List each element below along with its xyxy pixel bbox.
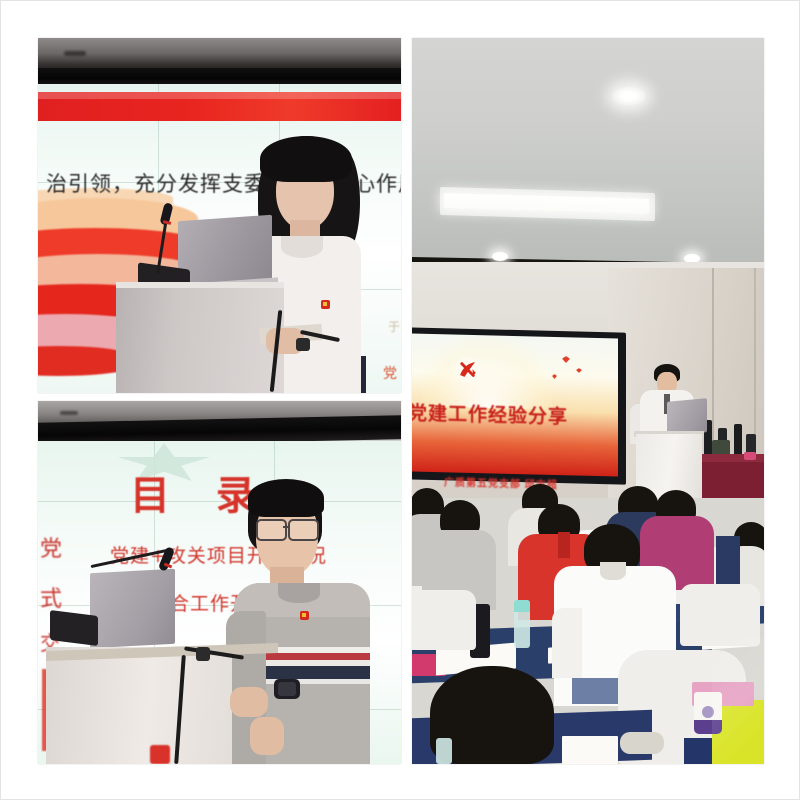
glasses-bridge [283, 526, 288, 528]
party-emblem-pin-center [302, 613, 306, 617]
party-emblem-pin-center [323, 302, 327, 306]
screen-edge-char-2: 式 [40, 581, 62, 613]
collage-frame: 治引领，充分发挥支委会领导核心作用 党建 活动策划 质量提升 党 于 [0, 0, 800, 800]
podium [116, 282, 284, 393]
collage-inner: 治引领，充分发挥支委会领导核心作用 党建 活动策划 质量提升 党 于 [38, 38, 764, 764]
speaker-hand-2 [250, 717, 284, 755]
podium-top [116, 282, 284, 288]
water-bottle-cap [514, 600, 530, 612]
red-object [150, 745, 170, 764]
paper-cup-logo [702, 706, 714, 718]
glasses-icon-right [288, 519, 319, 541]
screen-red-band-highlight [38, 92, 401, 99]
screen-title-text: 党建工作经验分享 [412, 398, 568, 429]
speaker-collar [281, 236, 323, 258]
chair [680, 584, 760, 646]
podium [46, 647, 232, 764]
screen-edge-char-2: 于 [388, 318, 400, 335]
ceiling-downlight-icon [612, 86, 646, 106]
laptop-icon [90, 569, 175, 648]
party-emblem-icon [454, 356, 482, 385]
smart-watch-face [278, 682, 296, 696]
ceiling-fixture [64, 51, 86, 56]
photo-top-left[interactable]: 治引领，充分发挥支委会领导核心作用 党建 活动策划 质量提升 党 于 [38, 38, 401, 393]
photo-bottom-left[interactable]: 目 录 党建+攻关项目开展情况 紧密结合工作开展做好选题 党 式 交 [38, 401, 401, 764]
speaker-hand [230, 687, 268, 717]
ceiling-fixture [60, 411, 78, 415]
ceiling [38, 38, 401, 72]
microphone-base [50, 610, 98, 646]
water-bottle [436, 738, 452, 764]
shirt-collar [558, 532, 570, 558]
speaker-hair-top [248, 479, 324, 517]
speaker-collar [278, 583, 320, 603]
cable-clip [196, 647, 210, 661]
pink-object [744, 452, 756, 460]
chair [412, 590, 476, 650]
speaker-hair-front [260, 136, 352, 182]
shirt-collar [600, 562, 626, 580]
photo-right[interactable]: 党建工作经验分享 广质第五党支部 邱志超 [412, 38, 764, 764]
spotlight-glow [492, 252, 508, 261]
screen-edge-char: 党 [383, 363, 397, 383]
rolled-paper [620, 732, 664, 754]
attendee-arm [552, 608, 582, 678]
paper-cup-band [694, 720, 722, 734]
screen-edge-char-1: 党 [40, 531, 62, 563]
ceiling [412, 38, 764, 266]
glasses-icon [256, 519, 287, 541]
cable-clip [296, 338, 310, 351]
paper-sheet [562, 736, 618, 764]
